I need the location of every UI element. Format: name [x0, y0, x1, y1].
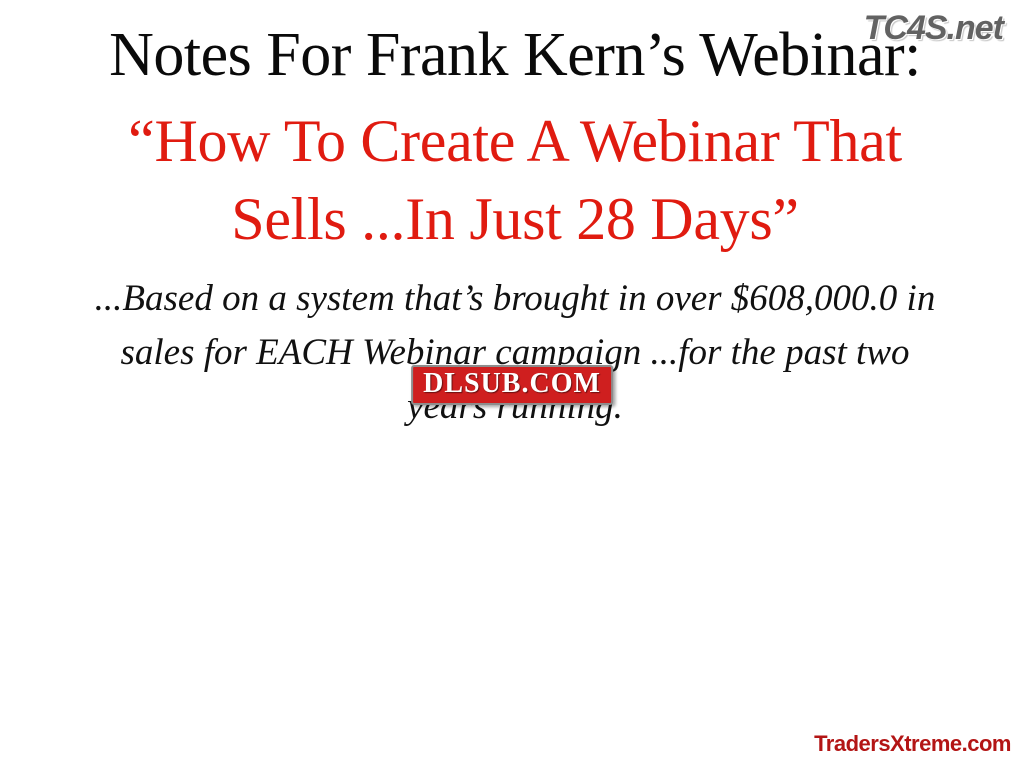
page-subtext: ...Based on a system that’s brought in o…: [3, 272, 1024, 433]
watermark-top-right: TC4S.net: [864, 9, 1003, 48]
watermark-bottom-right: TradersXtreme.com: [814, 731, 1011, 757]
slide-canvas: Notes For Frank Kern’s Webinar: “How To …: [0, 0, 1024, 768]
watermark-center: DLSUB.COM: [411, 365, 613, 405]
page-title-red: “How To Create A Webinar That Sells ...I…: [3, 102, 1024, 258]
